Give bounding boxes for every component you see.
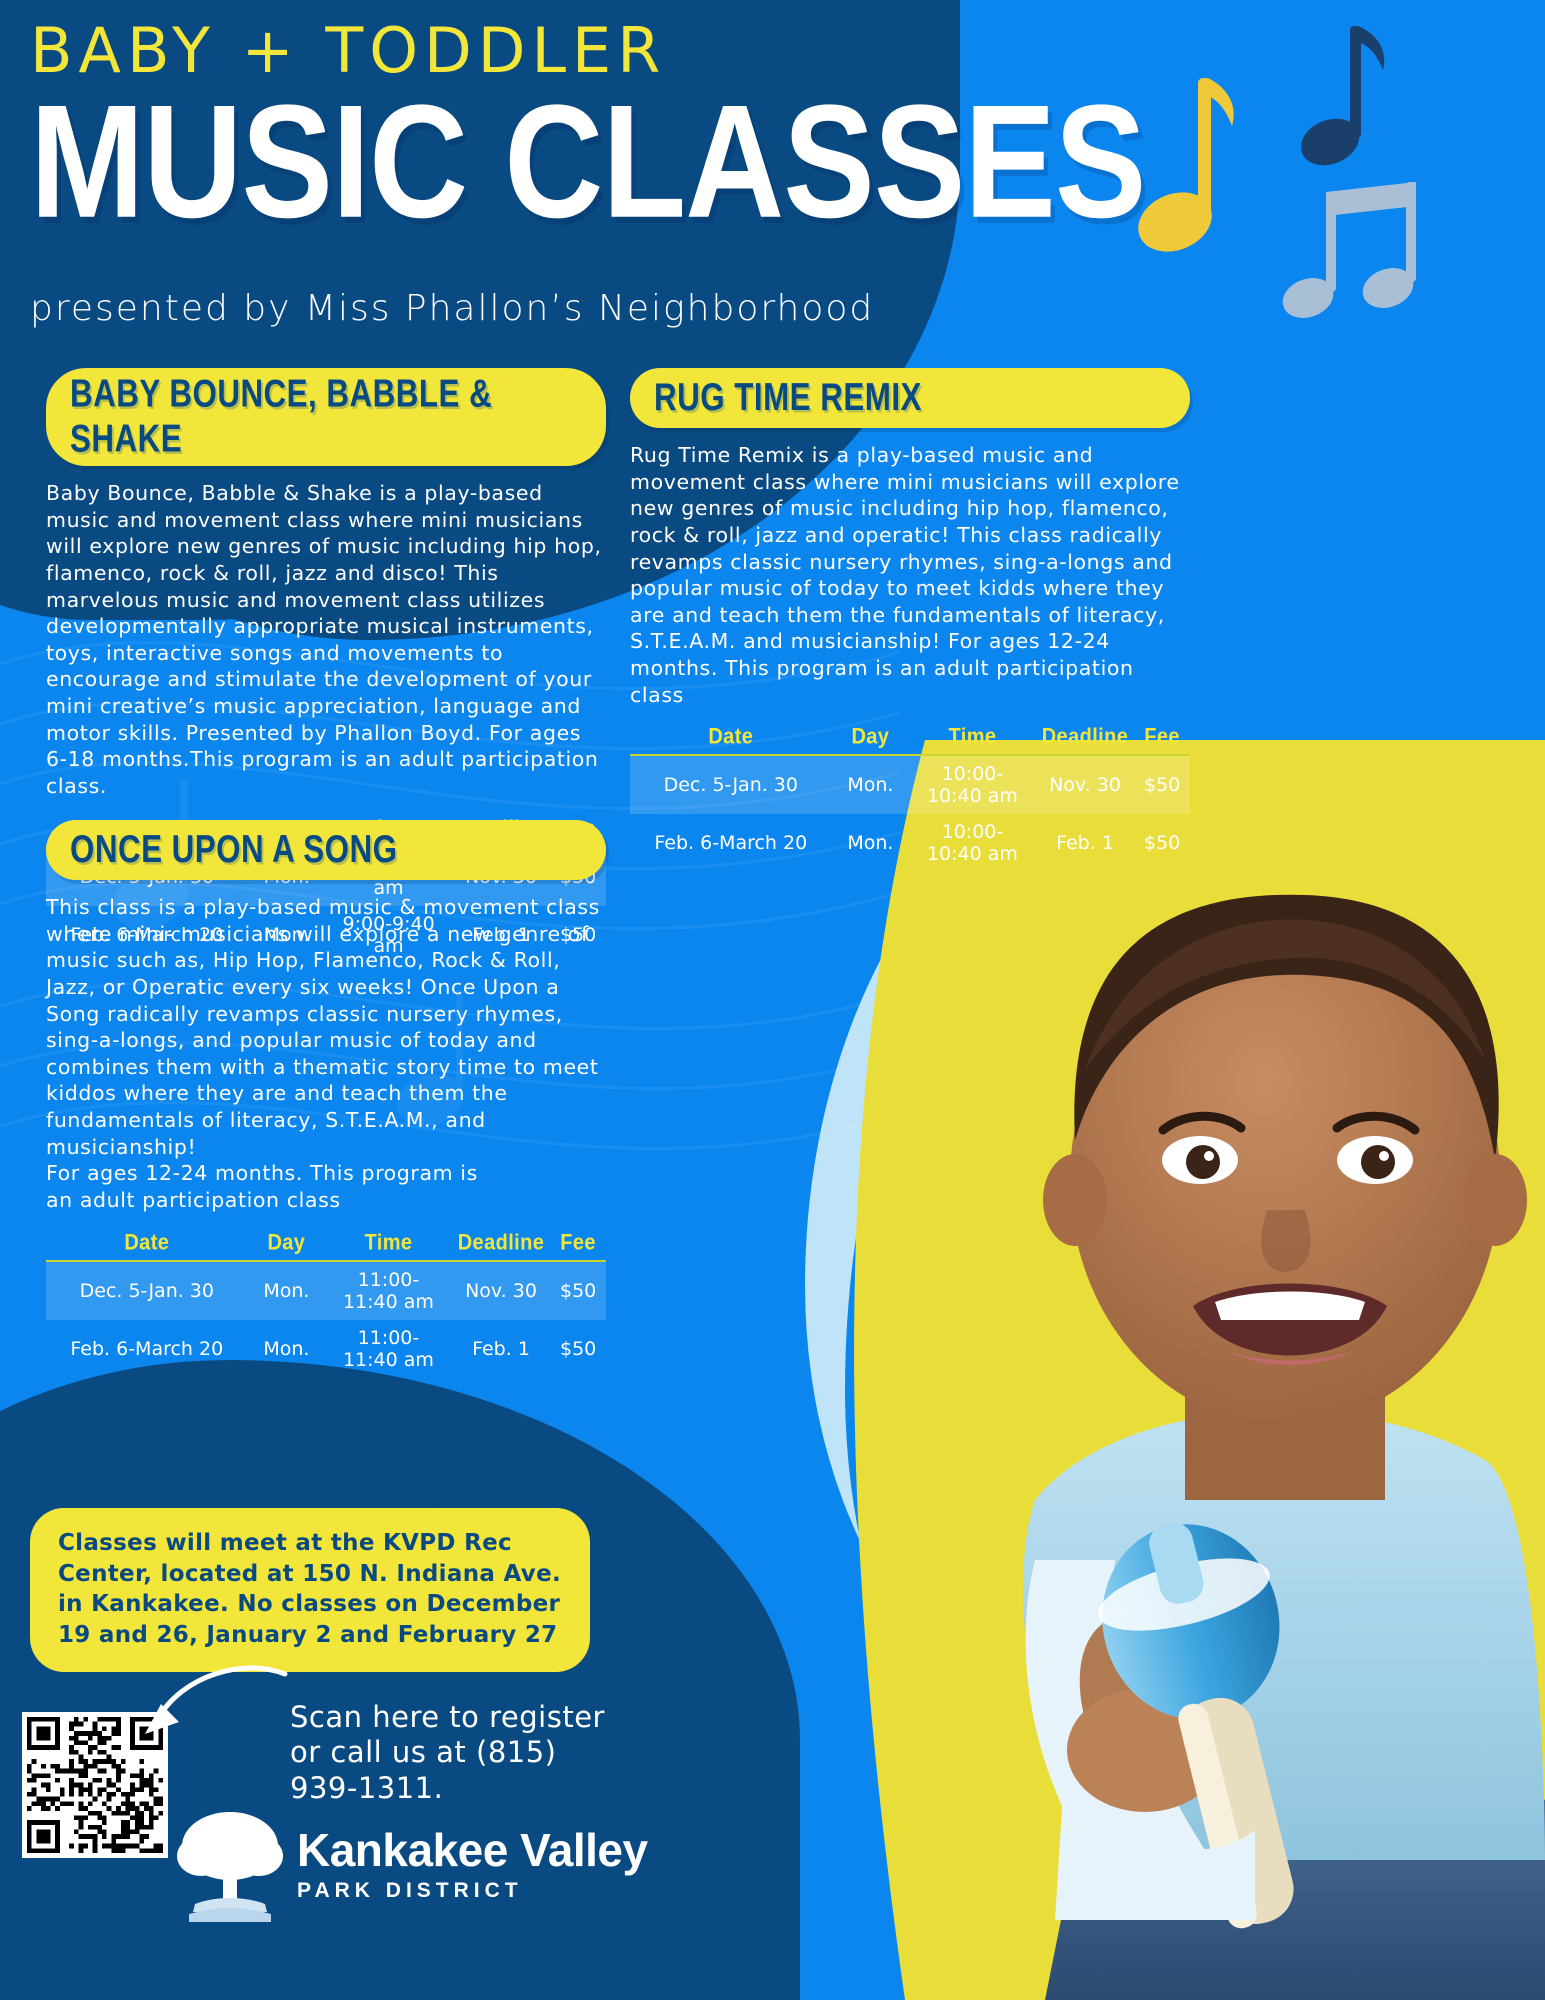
- table-row: Feb. 6-March 20 Mon. 10:00-10:40 am Feb.…: [630, 814, 1190, 872]
- page-title: MUSIC CLASSES: [30, 85, 1545, 238]
- table-header-row: Date Day Time Deadline Fee: [630, 724, 1190, 755]
- cell-day: Mon.: [248, 1261, 326, 1320]
- park-district-logo: Kankakee Valley PARK DISTRICT: [175, 1800, 648, 1930]
- cell-fee: $50: [1134, 755, 1190, 814]
- logo-subtitle: PARK DISTRICT: [297, 1879, 648, 1903]
- cell-fee: $50: [550, 1261, 606, 1320]
- callout-text: Classes will meet at the KVPD Rec Center…: [58, 1528, 564, 1650]
- cell-deadline: Nov. 30: [1036, 755, 1135, 814]
- table-row: Feb. 6-March 20 Mon. 11:00-11:40 am Feb.…: [46, 1320, 606, 1378]
- col-date: Date: [46, 1228, 248, 1262]
- section-once-upon-a-song: ONCE UPON A SONG This class is a play-ba…: [46, 820, 606, 1378]
- cell-time: 10:00-10:40 am: [909, 755, 1036, 814]
- section-title: RUG TIME REMIX: [654, 375, 922, 420]
- section-body: Baby Bounce, Babble & Shake is a play-ba…: [46, 480, 606, 800]
- schedule-table: Date Day Time Deadline Fee Dec. 5-Jan. 3…: [630, 724, 1190, 872]
- cell-time: 11:00-11:40 am: [325, 1320, 452, 1378]
- cell-deadline: Feb. 1: [1036, 814, 1135, 872]
- baby-photo: [785, 740, 1545, 2000]
- col-date: Date: [630, 723, 832, 757]
- section-body: This class is a play-based music & movem…: [46, 894, 606, 1214]
- table-header-row: Date Day Time Deadline Fee: [46, 1230, 606, 1261]
- section-rug-time-remix: RUG TIME REMIX Rug Time Remix is a play-…: [630, 368, 1190, 872]
- cell-date: Feb. 6-March 20: [46, 1320, 248, 1378]
- section-title-pill: BABY BOUNCE, BABBLE & SHAKE: [46, 368, 606, 466]
- col-deadline: Deadline: [452, 1228, 551, 1262]
- col-fee: Fee: [1134, 723, 1190, 757]
- schedule-table: Date Day Time Deadline Fee Dec. 5-Jan. 3…: [46, 1230, 606, 1378]
- cell-day: Mon.: [832, 814, 910, 872]
- cell-date: Feb. 6-March 20: [630, 814, 832, 872]
- col-day: Day: [248, 1228, 326, 1262]
- cell-fee: $50: [550, 1320, 606, 1378]
- section-title: ONCE UPON A SONG: [70, 827, 398, 872]
- tree-logo-icon: [175, 1800, 285, 1930]
- poster-canvas: BABY + TODDLER MUSIC CLASSES presented b…: [0, 0, 1545, 2000]
- table-row: Dec. 5-Jan. 30 Mon. 10:00-10:40 am Nov. …: [630, 755, 1190, 814]
- section-body: Rug Time Remix is a play-based music and…: [630, 442, 1190, 708]
- col-day: Day: [832, 723, 910, 757]
- col-time: Time: [325, 1228, 452, 1262]
- cell-day: Mon.: [248, 1320, 326, 1378]
- cell-deadline: Feb. 1: [452, 1320, 551, 1378]
- cell-date: Dec. 5-Jan. 30: [46, 1261, 248, 1320]
- section-title-pill: ONCE UPON A SONG: [46, 820, 606, 880]
- table-row: Dec. 5-Jan. 30 Mon. 11:00-11:40 am Nov. …: [46, 1261, 606, 1320]
- cell-day: Mon.: [832, 755, 910, 814]
- curved-arrow-icon: [135, 1662, 295, 1752]
- cell-deadline: Nov. 30: [452, 1261, 551, 1320]
- cell-time: 10:00-10:40 am: [909, 814, 1036, 872]
- cell-date: Dec. 5-Jan. 30: [630, 755, 832, 814]
- poster-header: BABY + TODDLER MUSIC CLASSES presented b…: [0, 0, 1545, 329]
- cell-time: 11:00-11:40 am: [325, 1261, 452, 1320]
- cell-fee: $50: [1134, 814, 1190, 872]
- col-fee: Fee: [550, 1228, 606, 1262]
- scan-instructions: Scan here to register or call us at (815…: [290, 1700, 610, 1806]
- section-title-pill: RUG TIME REMIX: [630, 368, 1190, 428]
- logo-name: Kankakee Valley: [297, 1827, 648, 1873]
- location-callout-box: Classes will meet at the KVPD Rec Center…: [30, 1508, 590, 1672]
- col-deadline: Deadline: [1036, 723, 1135, 757]
- col-time: Time: [909, 723, 1036, 757]
- section-title: BABY BOUNCE, BABBLE & SHAKE: [70, 371, 566, 461]
- header-subtitle: presented by Miss Phallon’s Neighborhood: [30, 288, 1545, 329]
